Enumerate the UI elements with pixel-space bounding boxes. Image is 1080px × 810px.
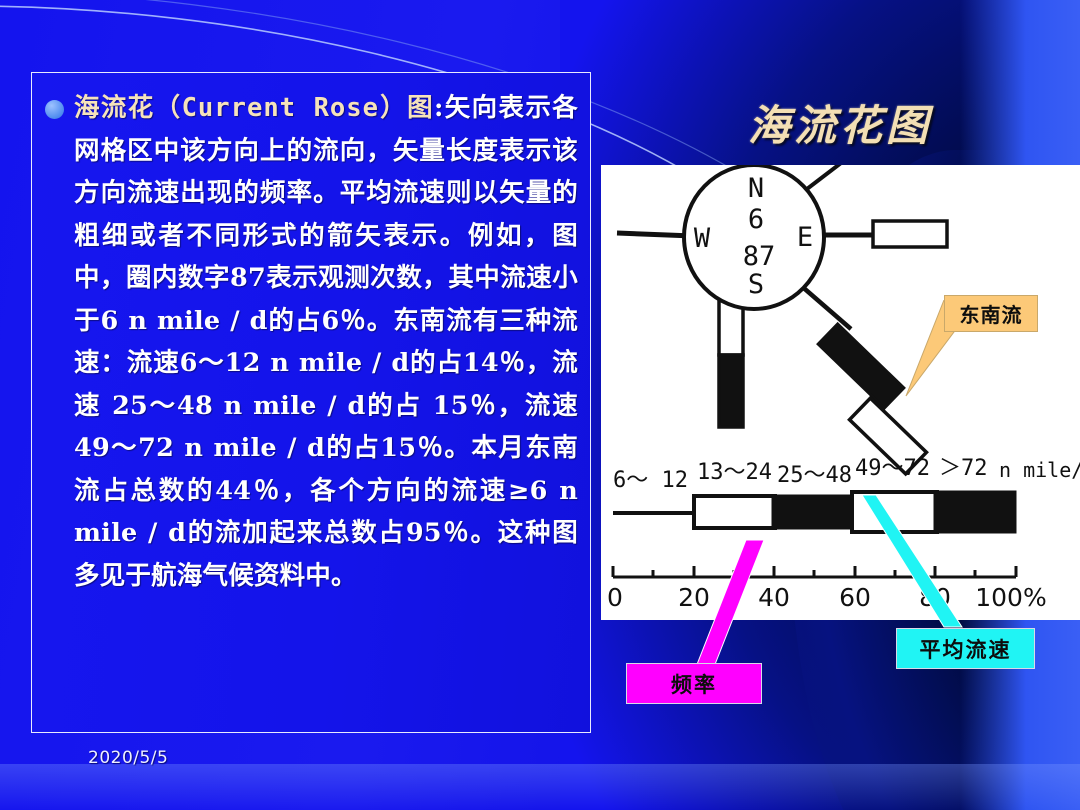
ray-south-solid <box>719 355 743 427</box>
compass-value-observations: 87 <box>743 241 776 272</box>
lead-title-tail: 图 <box>407 93 434 123</box>
bullet-dot-icon <box>45 100 64 119</box>
lead-paren-close: ） <box>379 93 407 123</box>
ray-southeast-arm <box>818 324 926 474</box>
page-title: 海流花图 <box>640 92 1040 153</box>
legend-label-4: 49～72 <box>855 456 930 481</box>
slide-date: 2020/5/5 <box>88 748 168 768</box>
compass-label-south: S <box>748 269 764 300</box>
compass-label-north: N <box>748 173 764 204</box>
legend-label-5: ＞72 <box>939 456 988 481</box>
callout-mean-speed[interactable]: 平均流速 <box>896 628 1035 669</box>
legend-seg-5-solid <box>935 492 1015 532</box>
axis-label-100: 100% <box>975 583 1046 612</box>
legend-label-1: 6～ 12 <box>613 468 688 493</box>
axis-label-60: 60 <box>839 583 871 612</box>
legend-label-2: 13～24 <box>697 460 772 485</box>
content-text-box: 海流花（Current Rose）图:矢向表示各网格区中该方向上的流向，矢量长度… <box>31 72 591 733</box>
legend-seg-3-solid <box>773 496 854 528</box>
legend-seg-2-hollow <box>694 496 775 528</box>
percent-axis <box>613 566 1016 577</box>
compass-label-west: W <box>694 223 711 254</box>
current-rose-figure: N W E S 6 87 6～ 12 <box>601 165 1080 620</box>
lead-title-cn: 海流花 <box>74 93 155 123</box>
axis-label-20: 20 <box>678 583 710 612</box>
slide-canvas: 海流花（Current Rose）图:矢向表示各网格区中该方向上的流向，矢量长度… <box>0 0 1080 810</box>
legend-seg-4-hollow <box>852 492 937 532</box>
axis-label-40: 40 <box>758 583 790 612</box>
legend-scale-bar <box>613 492 1015 532</box>
body-text-rest: :矢向表示各网格区中该方向上的流向，矢量长度表示该方向流速出现的频率。平均流速则… <box>74 93 578 591</box>
background-bottom-sheen <box>0 764 1080 810</box>
axis-label-80: 80 <box>919 583 951 612</box>
axis-label-0: 0 <box>607 583 623 612</box>
body-paragraph: 海流花（Current Rose）图:矢向表示各网格区中该方向上的流向，矢量长度… <box>74 87 578 597</box>
axis-tick-labels: 0 20 40 60 80 100% <box>607 583 1047 612</box>
compass-value-calm: 6 <box>748 204 764 235</box>
lead-paren-open: （ <box>155 93 182 123</box>
legend-class-labels: 6～ 12 13～24 25～48 49～72 ＞72 n mile/d <box>613 456 1080 493</box>
ray-east-hollow-block <box>873 221 947 247</box>
compass-label-east: E <box>797 222 813 253</box>
callout-frequency[interactable]: 频率 <box>626 663 762 704</box>
figure-panel: N W E S 6 87 6～ 12 <box>601 165 1080 620</box>
legend-label-3: 25～48 <box>777 463 852 488</box>
legend-unit: n mile/d <box>999 458 1080 482</box>
lead-title-en: Current Rose <box>182 93 379 123</box>
callout-southeast-current[interactable]: 东南流 <box>944 295 1038 332</box>
